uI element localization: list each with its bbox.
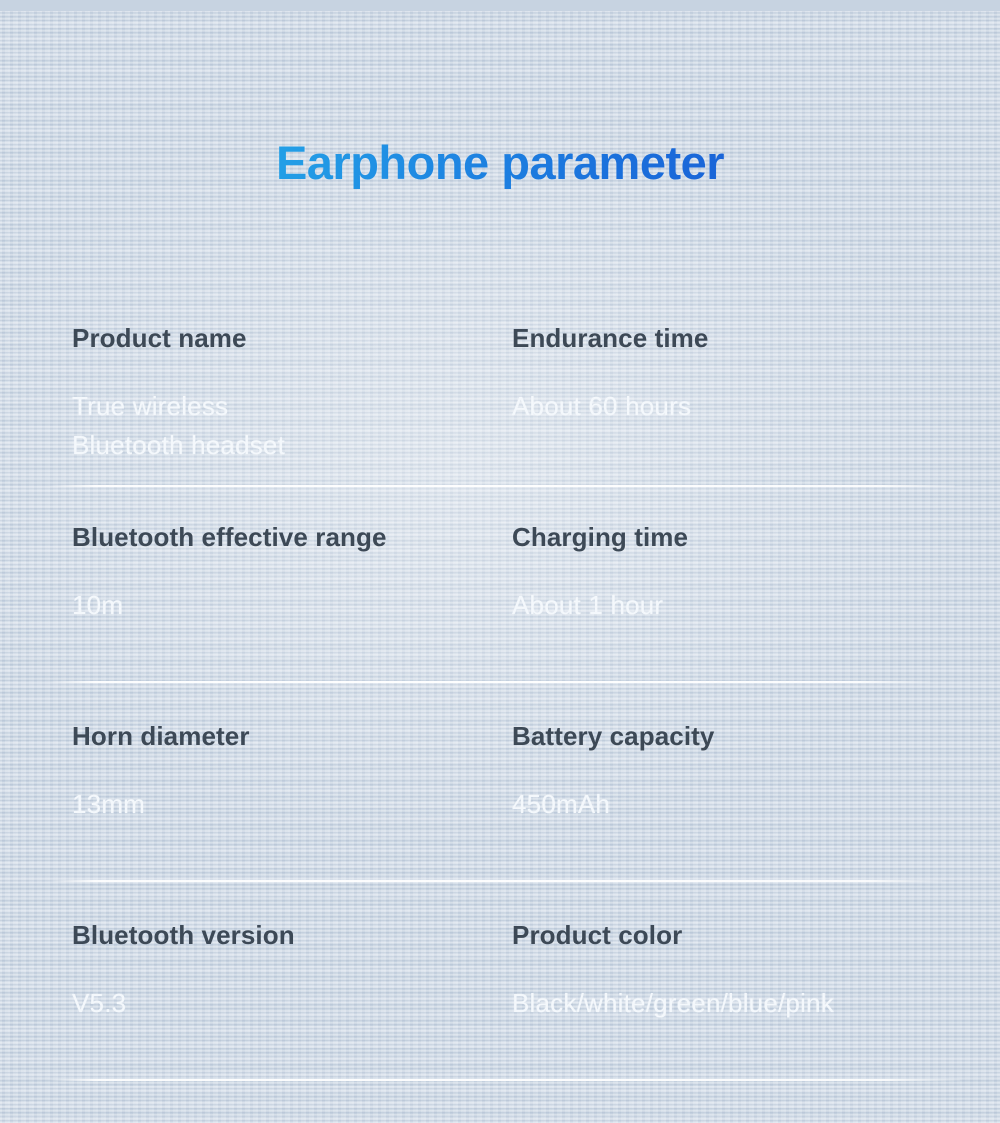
spec-value: True wirelessBluetooth headset: [72, 387, 502, 465]
page-title: Earphone parameter: [0, 131, 1000, 195]
spec-value: About 60 hours: [512, 387, 972, 426]
spec-cell-product-color: Product color Black/white/green/blue/pin…: [512, 919, 972, 1023]
spec-cell-bluetooth-version: Bluetooth version V5.3: [72, 919, 502, 1023]
row-divider: [50, 485, 955, 487]
spec-cell-horn-diameter: Horn diameter 13mm: [72, 720, 502, 824]
row-divider: [50, 681, 930, 683]
row-divider: [50, 1079, 960, 1081]
spec-row: Horn diameter 13mm Battery capacity 450m…: [0, 720, 1000, 919]
spec-label: Endurance time: [512, 322, 972, 354]
specification-table: Product name True wirelessBluetooth head…: [0, 322, 1000, 1118]
spec-label: Horn diameter: [72, 720, 502, 752]
spec-label: Bluetooth effective range: [72, 521, 502, 553]
spec-cell-battery-capacity: Battery capacity 450mAh: [512, 720, 972, 824]
spec-value: V5.3: [72, 984, 502, 1023]
spec-row: Product name True wirelessBluetooth head…: [0, 322, 1000, 521]
spec-cell-product-name: Product name True wirelessBluetooth head…: [72, 322, 502, 465]
spec-label: Bluetooth version: [72, 919, 502, 951]
spec-label: Product color: [512, 919, 972, 951]
spec-value: 13mm: [72, 785, 502, 824]
spec-cell-bluetooth-effective-range: Bluetooth effective range 10m: [72, 521, 502, 625]
spec-cell-endurance-time: Endurance time About 60 hours: [512, 322, 972, 426]
earphone-parameter-page: Earphone parameter Product name True wir…: [0, 0, 1000, 1123]
spec-label: Charging time: [512, 521, 972, 553]
page-content: Earphone parameter Product name True wir…: [0, 0, 1000, 1123]
spec-row: Bluetooth version V5.3 Product color Bla…: [0, 919, 1000, 1118]
spec-label: Battery capacity: [512, 720, 972, 752]
spec-label: Product name: [72, 322, 502, 354]
spec-row: Bluetooth effective range 10m Charging t…: [0, 521, 1000, 720]
spec-value: 450mAh: [512, 785, 972, 824]
spec-value: Black/white/green/blue/pink: [512, 984, 972, 1023]
spec-cell-charging-time: Charging time About 1 hour: [512, 521, 972, 625]
spec-value: 10m: [72, 586, 502, 625]
row-divider: [50, 880, 942, 882]
spec-value: About 1 hour: [512, 586, 972, 625]
